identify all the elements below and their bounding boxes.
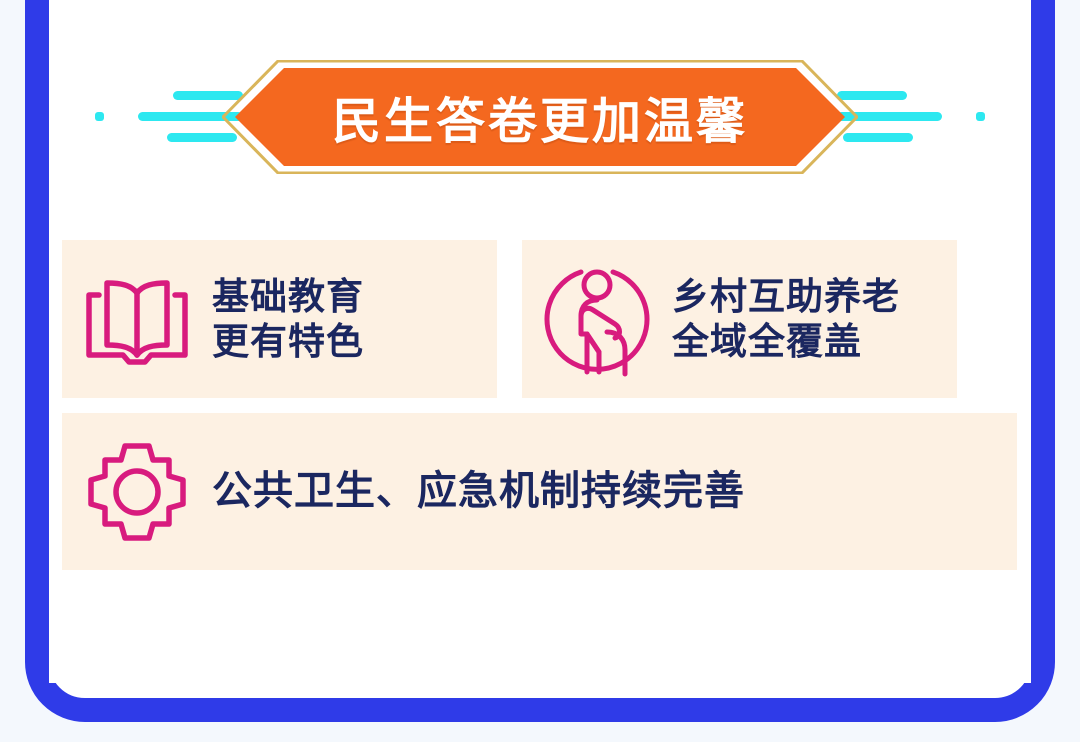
card-public-health[interactable]: 公共卫生、应急机制持续完善 bbox=[62, 413, 1017, 570]
card-label: 公共卫生、应急机制持续完善 bbox=[212, 467, 745, 516]
right-speed-lines-decoration bbox=[837, 84, 987, 150]
card-basic-education[interactable]: 基础教育 更有特色 bbox=[62, 240, 497, 398]
speed-line-dot bbox=[95, 112, 104, 121]
card-label: 基础教育 更有特色 bbox=[212, 274, 364, 364]
header-banner-area: 民生答卷更加温馨 bbox=[49, 54, 1031, 180]
page-title: 民生答卷更加温馨 bbox=[222, 60, 858, 174]
info-card-grid: 基础教育 更有特色 乡村互助养老 全域全覆盖 bbox=[62, 240, 1018, 570]
open-book-icon bbox=[62, 273, 212, 365]
card-label: 乡村互助养老 全域全覆盖 bbox=[672, 274, 900, 364]
card-row-bottom: 公共卫生、应急机制持续完善 bbox=[62, 413, 1018, 570]
card-rural-elderly-care[interactable]: 乡村互助养老 全域全覆盖 bbox=[522, 240, 957, 398]
left-speed-lines-decoration bbox=[93, 84, 243, 150]
elderly-person-with-cane-icon bbox=[522, 260, 672, 378]
gear-icon bbox=[62, 440, 212, 544]
card-row-top: 基础教育 更有特色 乡村互助养老 全域全覆盖 bbox=[62, 240, 1018, 398]
speed-line-dot bbox=[976, 112, 985, 121]
header-banner: 民生答卷更加温馨 bbox=[222, 60, 858, 174]
content-canvas: 民生答卷更加温馨 基础教育 更有特色 bbox=[49, 0, 1031, 683]
